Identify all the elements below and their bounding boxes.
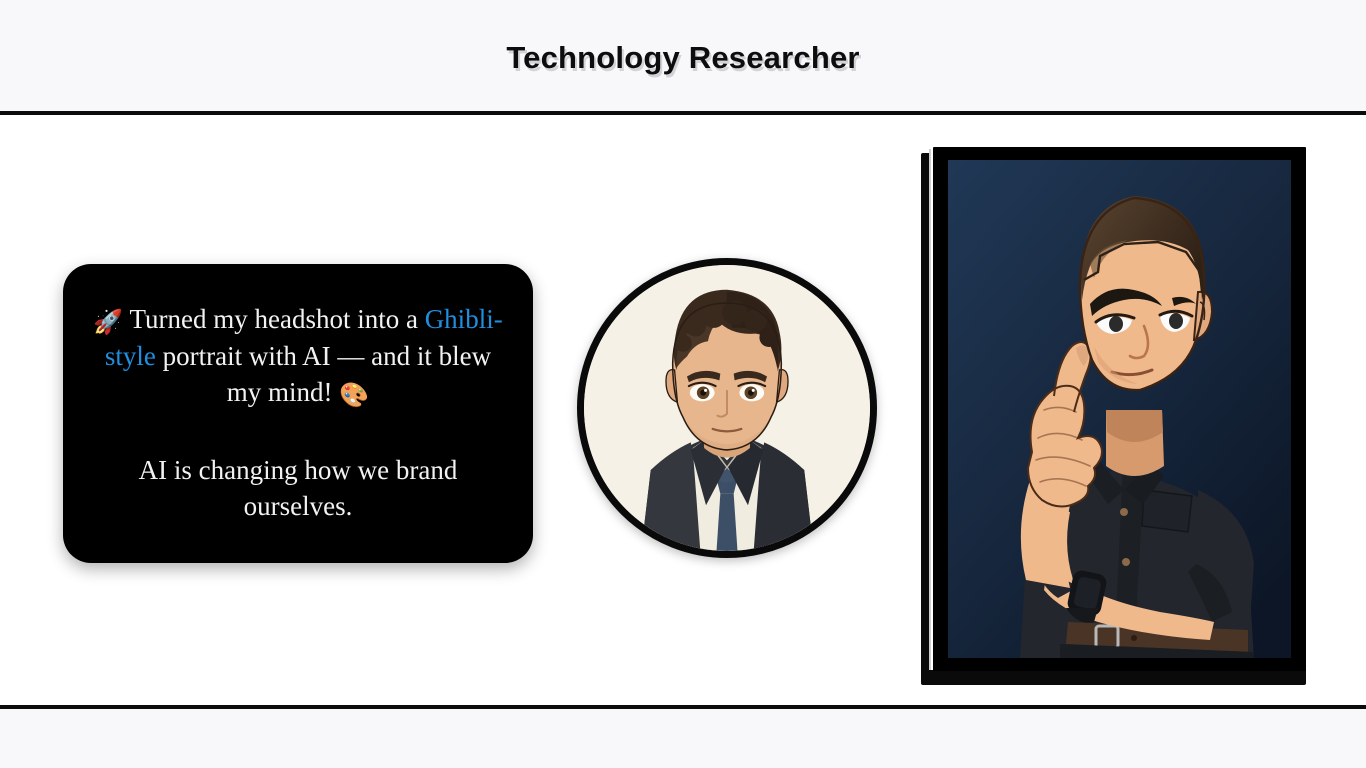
quote-headline: 🚀 Turned my headshot into a Ghibli-style… (93, 302, 503, 412)
slide-footer (0, 705, 1366, 768)
portrait-illustration (948, 160, 1291, 658)
quote-text-part-2: portrait with AI — and it blew my mind! (156, 341, 491, 407)
palette-icon: 🎨 (339, 381, 369, 409)
slide-header: Technology Researcher (0, 0, 1366, 115)
avatar-illustration (584, 265, 870, 551)
slide-body: 🚀 Turned my headshot into a Ghibli-style… (0, 115, 1366, 705)
quote-subtext: AI is changing how we brand ourselves. (130, 453, 466, 525)
portrait-frame (921, 147, 1306, 679)
rocket-icon: 🚀 (93, 308, 123, 336)
quote-card: 🚀 Turned my headshot into a Ghibli-style… (63, 264, 533, 563)
page-title: Technology Researcher (506, 40, 859, 76)
slide-canvas: Technology Researcher 🚀 Turned my headsh… (0, 0, 1366, 768)
avatar (577, 258, 877, 558)
portrait-photo (948, 160, 1291, 658)
footer-divider (0, 705, 1366, 709)
quote-text-part-1: Turned my headshot into a (123, 304, 425, 334)
